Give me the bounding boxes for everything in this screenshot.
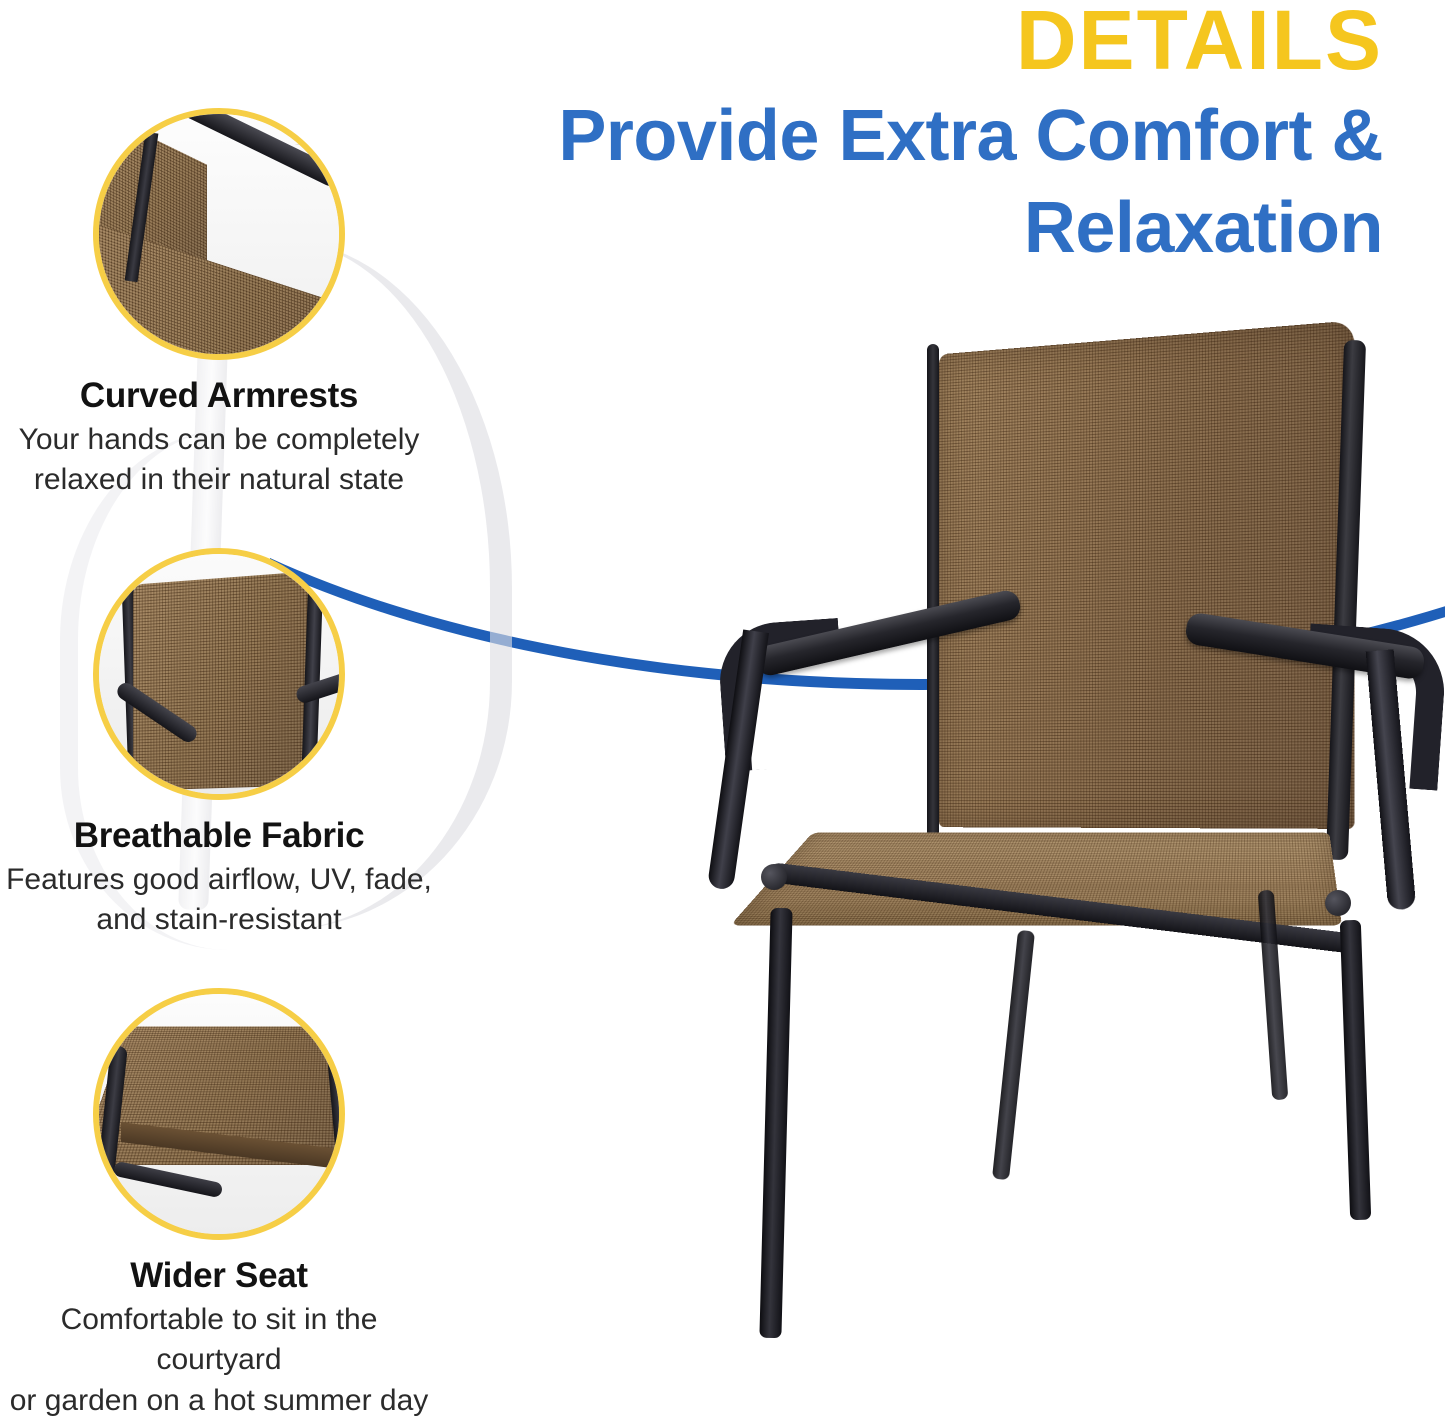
feature-description-line-2: relaxed in their natural state	[0, 460, 438, 500]
chair-bracket	[761, 864, 787, 890]
feature-title: Breathable Fabric	[0, 816, 438, 856]
feature-description-line-2: and stain-resistant	[0, 900, 438, 940]
feature-breathable-fabric: Breathable Fabric Features good airflow,…	[0, 548, 438, 941]
chair-leg-back-left	[992, 930, 1035, 1180]
feature-curved-armrests: Curved Armrests Your hands can be comple…	[0, 108, 438, 501]
product-detail-infographic: DETAILS Provide Extra Comfort & Relaxati…	[0, 0, 1445, 1419]
page-title-line-1: Provide Extra Comfort &	[558, 100, 1383, 172]
eyebrow-details: DETAILS	[1016, 0, 1383, 82]
backrest-mesh	[133, 571, 312, 791]
patio-chair	[705, 330, 1445, 1340]
chair-leg-front-left	[759, 908, 792, 1338]
feature-image-breathable-fabric	[93, 548, 345, 800]
chair-backrest-mesh	[939, 320, 1354, 829]
page-title-line-2: Relaxation	[1024, 192, 1383, 264]
chair-bracket	[1325, 890, 1351, 916]
feature-description-line-1: Comfortable to sit in the courtyard	[0, 1300, 438, 1380]
feature-title: Wider Seat	[0, 1256, 438, 1296]
feature-title: Curved Armrests	[0, 376, 438, 416]
feature-description-line-1: Features good airflow, UV, fade,	[0, 860, 438, 900]
feature-description-line-2: or garden on a hot summer day	[0, 1381, 438, 1419]
feature-description-line-1: Your hands can be completely	[0, 420, 438, 460]
feature-wider-seat: Wider Seat Comfortable to sit in the cou…	[0, 988, 438, 1419]
feature-image-curved-armrests	[93, 108, 345, 360]
armrest-curve	[239, 144, 345, 334]
feature-image-wider-seat	[93, 988, 345, 1240]
chair-back-frame-left	[927, 344, 939, 844]
chair-leg-front-right	[1340, 920, 1371, 1221]
